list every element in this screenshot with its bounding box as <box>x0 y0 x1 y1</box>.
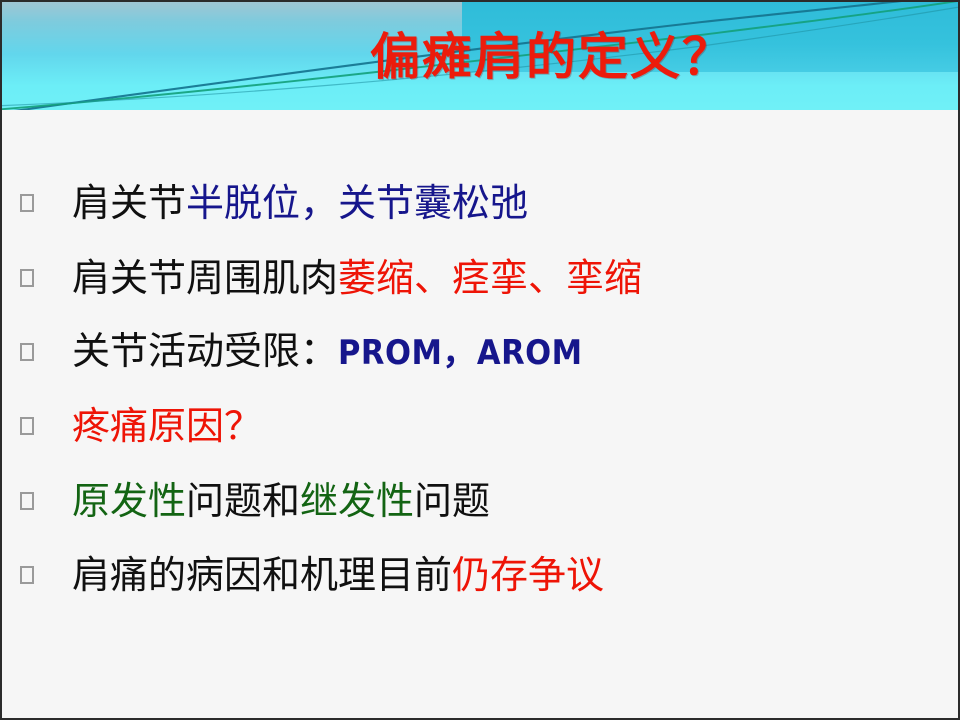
bullet-box-icon <box>20 492 34 510</box>
list-item-text: 原发性问题和继发性问题 <box>72 479 490 523</box>
text-segment-abbreviation: PROM，AROM <box>338 333 583 373</box>
list-item: 肩关节周围肌肉萎缩、痉挛、挛缩 <box>2 253 958 303</box>
list-item-text: 肩痛的病因和机理目前仍存争议 <box>72 553 604 597</box>
bullet-box-icon <box>20 566 34 584</box>
text-segment: 肩关节 <box>72 181 186 225</box>
text-segment-highlight: 继发性 <box>300 479 414 523</box>
list-item: 肩关节半脱位，关节囊松弛 <box>2 178 958 228</box>
text-segment: 肩关节周围肌肉 <box>72 256 338 300</box>
presentation-slide: 偏瘫肩的定义？ 肩关节半脱位，关节囊松弛 肩关节周围肌肉萎缩、痉挛、挛缩 关节活… <box>0 0 960 720</box>
text-segment-highlight: 半脱位，关节囊松弛 <box>186 181 528 225</box>
text-segment: 关节活动受限： <box>72 329 338 373</box>
list-item-text: 关节活动受限：PROM，AROM <box>72 329 583 375</box>
bullet-box-icon <box>20 417 34 435</box>
list-item: 关节活动受限：PROM，AROM <box>2 327 958 377</box>
list-item-text: 肩关节周围肌肉萎缩、痉挛、挛缩 <box>72 256 642 300</box>
bullet-box-icon <box>20 194 34 212</box>
text-segment-highlight: 仍存争议 <box>452 553 604 597</box>
list-item-text: 肩关节半脱位，关节囊松弛 <box>72 181 528 225</box>
text-segment: 肩痛的病因和机理目前 <box>72 553 452 597</box>
text-segment: 问题和 <box>186 479 300 523</box>
list-item: 肩痛的病因和机理目前仍存争议 <box>2 550 958 600</box>
text-segment-highlight: 萎缩、痉挛、挛缩 <box>338 256 642 300</box>
slide-body: 肩关节半脱位，关节囊松弛 肩关节周围肌肉萎缩、痉挛、挛缩 关节活动受限：PROM… <box>2 110 958 718</box>
bullet-box-icon <box>20 343 34 361</box>
list-item: 原发性问题和继发性问题 <box>2 476 958 526</box>
text-segment-highlight: 原发性 <box>72 479 186 523</box>
list-item-text: 疼痛原因？ <box>72 404 262 448</box>
page-title-text: 偏瘫肩的定义？ <box>370 28 734 86</box>
text-segment-highlight: 疼痛原因？ <box>72 404 262 448</box>
slide-header: 偏瘫肩的定义？ <box>2 2 958 110</box>
page-title: 偏瘫肩的定义？ <box>2 32 958 82</box>
list-item: 疼痛原因？ <box>2 401 958 451</box>
text-segment: 问题 <box>414 479 490 523</box>
bullet-box-icon <box>20 269 34 287</box>
